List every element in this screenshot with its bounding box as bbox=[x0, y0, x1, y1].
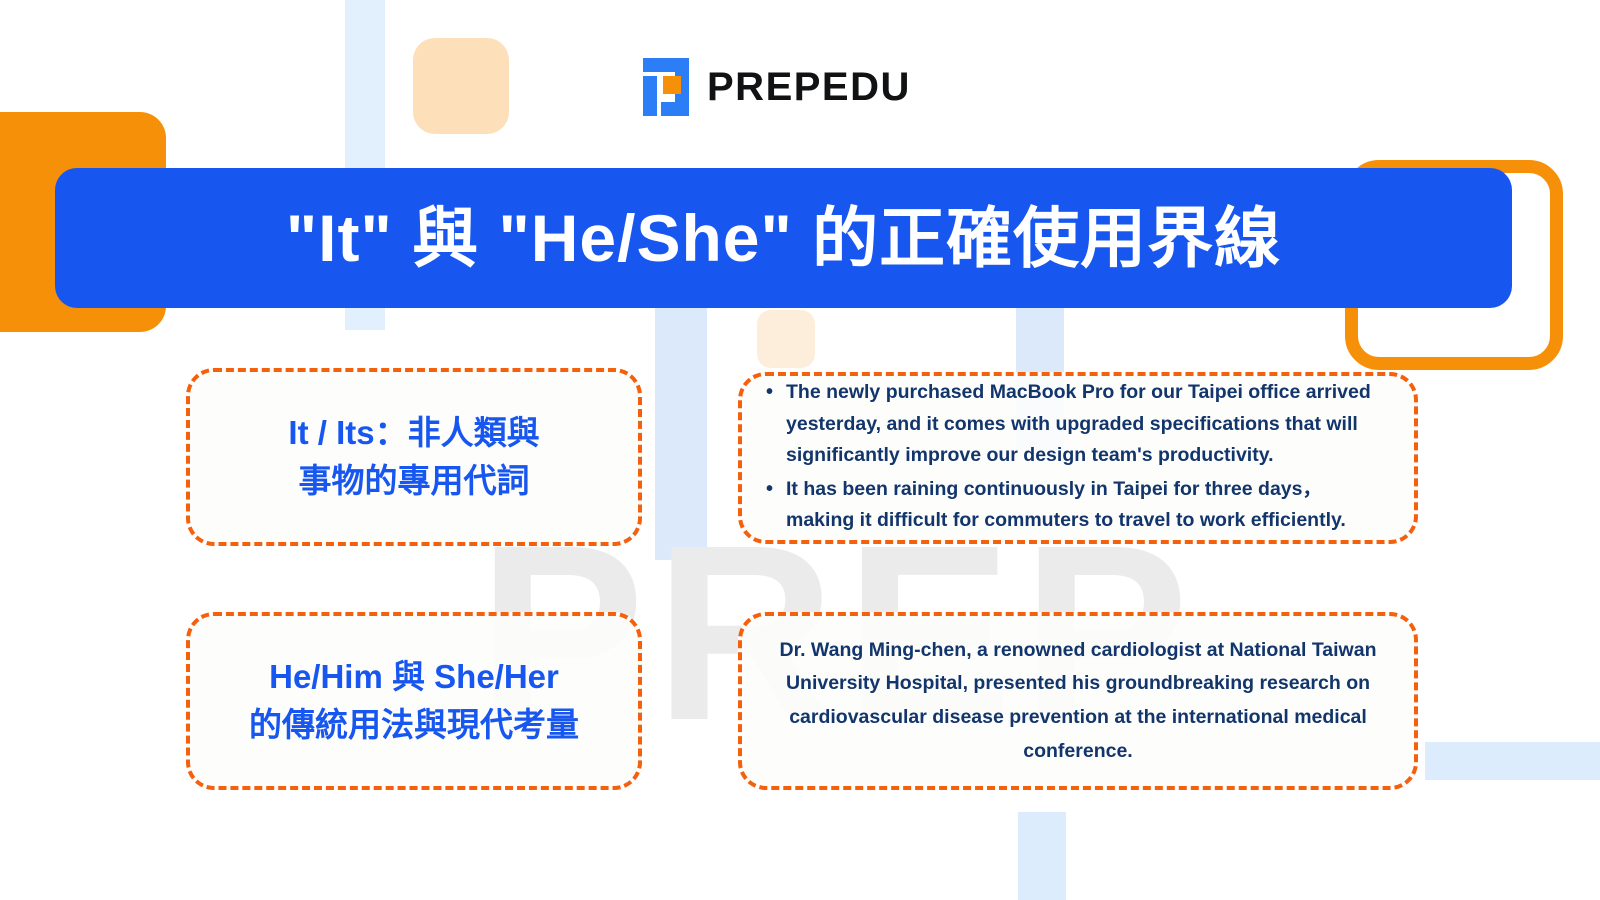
example-card-he-she: Dr. Wang Ming-chen, a renowned cardiolog… bbox=[738, 612, 1418, 790]
topic-card-he-she: He/Him 與 She/Her的傳統用法與現代考量 bbox=[186, 612, 642, 790]
topic-card-it-its: It / Its：非人類與事物的專用代詞 bbox=[186, 368, 642, 546]
topic-card-label: He/Him 與 She/Her的傳統用法與現代考量 bbox=[231, 653, 597, 749]
topic-card-label: It / Its：非人類與事物的專用代詞 bbox=[270, 409, 557, 505]
decor-peach-square-top bbox=[413, 38, 509, 134]
decor-pale-blue-bar-right bbox=[1425, 742, 1600, 780]
slide-canvas: PREP PREPEDU "It" 與 "He/She" 的正確使用界線 It … bbox=[0, 0, 1600, 900]
brand-name: PREPEDU bbox=[707, 65, 911, 110]
list-item: The newly purchased MacBook Pro for our … bbox=[786, 377, 1390, 472]
example-bullet-list: The newly purchased MacBook Pro for our … bbox=[760, 377, 1390, 539]
decor-peach-square-mid bbox=[757, 310, 815, 368]
list-item: It has been raining continuously in Taip… bbox=[786, 474, 1390, 537]
brand-logo: PREPEDU bbox=[633, 58, 911, 116]
decor-pale-blue-stripe-bottom bbox=[1018, 812, 1066, 900]
prepedu-p-logo-icon bbox=[633, 58, 689, 116]
page-title: "It" 與 "He/She" 的正確使用界線 bbox=[286, 205, 1281, 271]
title-banner: "It" 與 "He/She" 的正確使用界線 bbox=[55, 168, 1512, 308]
example-card-it-its: The newly purchased MacBook Pro for our … bbox=[738, 372, 1418, 544]
example-paragraph: Dr. Wang Ming-chen, a renowned cardiolog… bbox=[768, 634, 1388, 768]
